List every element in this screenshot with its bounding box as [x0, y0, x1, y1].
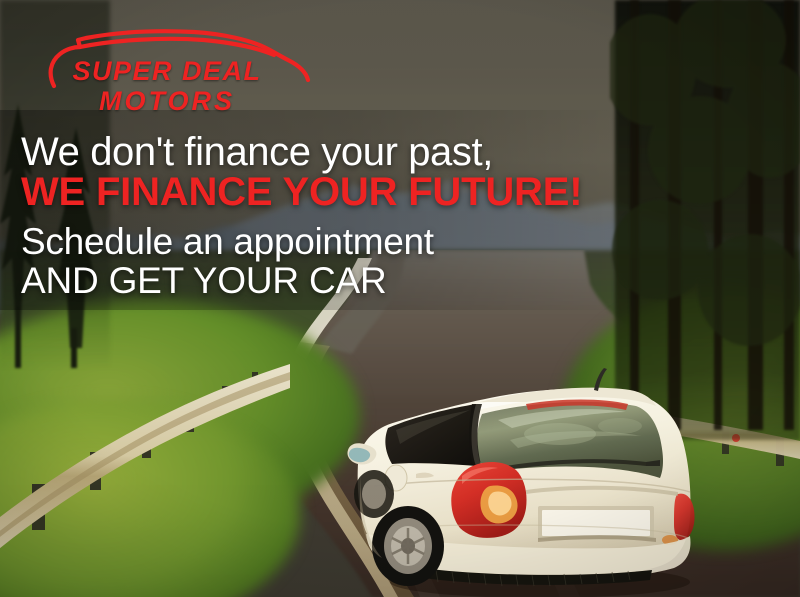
headline-line-3: Schedule an appointment — [21, 222, 671, 262]
logo-line-2: MOTORS — [22, 86, 312, 116]
headline-line-1: We don't finance your past, — [21, 131, 671, 173]
headline-line-2: WE FINANCE YOUR FUTURE! — [21, 171, 671, 213]
headline-block: We don't finance your past, WE FINANCE Y… — [21, 131, 671, 301]
logo-line-1: SUPER DEAL — [72, 56, 261, 86]
logo-wordmark: SUPER DEAL MOTORS — [22, 56, 312, 116]
advertisement-banner: SUPER DEAL MOTORS We don't finance your … — [0, 0, 800, 597]
headline-line-4: AND GET YOUR CAR — [21, 261, 671, 301]
license-plate — [542, 510, 650, 536]
white-hatchback-car — [330, 368, 730, 597]
super-deal-motors-logo[interactable]: SUPER DEAL MOTORS — [22, 28, 312, 120]
